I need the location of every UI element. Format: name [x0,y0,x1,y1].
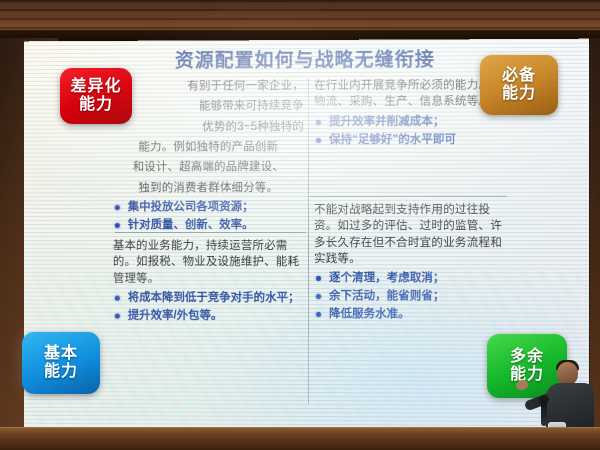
bullet-text: 将成本降到低于竞争对手的水平； [128,292,300,304]
bullet-text: 针对质量、创新、效率。 [128,219,254,231]
list-item: 保持“足够好”的水平即可 [314,132,507,148]
quadrant-basic-text: 基本的业务能力，持续运营所必需的。如报税、物业及设施维护、能耗管理等。 [113,238,304,287]
quadrant-differentiating-text-1: 有别于任何一家企业， [113,78,304,95]
grid-divider-right-horizontal [310,196,507,197]
quadrant-differentiating-text-3: 优势的3~5种独特的 [113,119,304,136]
bullet-dot-icon [316,276,321,281]
photo-scene: 资源配置如何与战略无缝衔接 有别于任何一家企业， 能够带来可持续竞争 优势的3~… [0,0,600,450]
quadrant-differentiating-text-2: 能够带来可持续竞争 [113,98,304,115]
bullet-dot-icon [316,137,321,142]
bullet-dot-icon [115,313,120,318]
bullet-text: 降低服务水准。 [329,308,410,320]
list-item: 提升效率/外包等。 [113,309,304,325]
bullet-text: 逐个清理，考虑取消； [329,272,444,284]
list-item: 将成本降到低于竞争对手的水平； [113,291,304,307]
badge-essential-capability: 必备 能力 [480,55,558,115]
quadrant-surplus-text: 不能对战略起到支持作用的过往投资。如过多的评估、过时的监管、许多长久存在但不合时… [314,202,507,268]
badge-basic-line2: 能力 [44,363,78,381]
microphone-icon [541,400,547,426]
quadrant-differentiating-text-4: 能力。例如独特的产品创新 [113,139,304,156]
presenter-head [557,362,578,385]
grid-divider-vertical [308,78,309,404]
badge-essential-line2: 能力 [502,85,536,103]
badge-essential-line1: 必备 [502,67,536,85]
bullet-dot-icon [115,223,120,228]
quadrant-surplus-bullets: 逐个清理，考虑取消； 余下活动，能省则省； 降低服务水准。 [314,271,507,323]
bullet-text: 余下活动，能省则省； [329,290,444,302]
quadrant-essential-bullets: 提升效率并削减成本； 保持“足够好”的水平即可 [314,114,507,148]
list-item: 逐个清理，考虑取消； [314,271,507,287]
quadrant-surplus: 不能对战略起到支持作用的过往投资。如过多的评估、过时的监管、许多长久存在但不合时… [314,202,507,325]
quadrant-differentiating-text-6: 独到的消费者群体细分等。 [113,180,304,197]
quadrant-basic: 基本的业务能力，持续运营所必需的。如报税、物业及设施维护、能耗管理等。 将成本降… [113,238,304,327]
quadrant-differentiating-bullets: 集中投放公司各项资源； 针对质量、创新、效率。 [113,200,304,234]
bullet-dot-icon [115,296,120,301]
bullet-dot-icon [316,294,321,299]
list-item: 提升效率并削减成本； [314,114,507,130]
quadrant-basic-bullets: 将成本降到低于竞争对手的水平； 提升效率/外包等。 [113,291,304,325]
quadrant-essential: 在行业内开展竞争所必须的能力。如物流、采购、生产、信息系统等。 提升效率并削减成… [314,77,507,150]
bullet-text: 提升效率并削减成本； [329,115,444,127]
bullet-text: 提升效率/外包等。 [128,310,223,322]
quadrant-differentiating: 有别于任何一家企业， 能够带来可持续竞争 优势的3~5种独特的 能力。例如独特的… [113,78,304,236]
quadrant-grid: 有别于任何一家企业， 能够带来可持续竞争 优势的3~5种独特的 能力。例如独特的… [109,75,509,407]
badge-differentiating-capability: 差异化 能力 [60,68,132,124]
quadrant-differentiating-text-5: 和设计、超高端的品牌建设、 [113,159,304,176]
bullet-dot-icon [316,312,321,317]
list-item: 集中投放公司各项资源； [113,200,304,216]
badge-basic-line1: 基本 [44,345,78,363]
badge-basic-capability: 基本 能力 [22,332,100,394]
desk-foreground [0,427,600,450]
badge-differentiating-line2: 能力 [79,96,113,114]
list-item: 降低服务水准。 [314,307,507,323]
quadrant-essential-text: 在行业内开展竞争所必须的能力。如物流、采购、生产、信息系统等。 [314,77,507,110]
list-item: 针对质量、创新、效率。 [113,218,304,234]
bullet-dot-icon [115,205,120,210]
bullet-text: 保持“足够好”的水平即可 [329,133,456,145]
bullet-dot-icon [316,120,321,125]
ceiling [0,0,600,42]
bullet-text: 集中投放公司各项资源； [128,201,254,213]
badge-differentiating-line1: 差异化 [70,78,121,96]
list-item: 余下活动，能省则省； [314,289,507,305]
